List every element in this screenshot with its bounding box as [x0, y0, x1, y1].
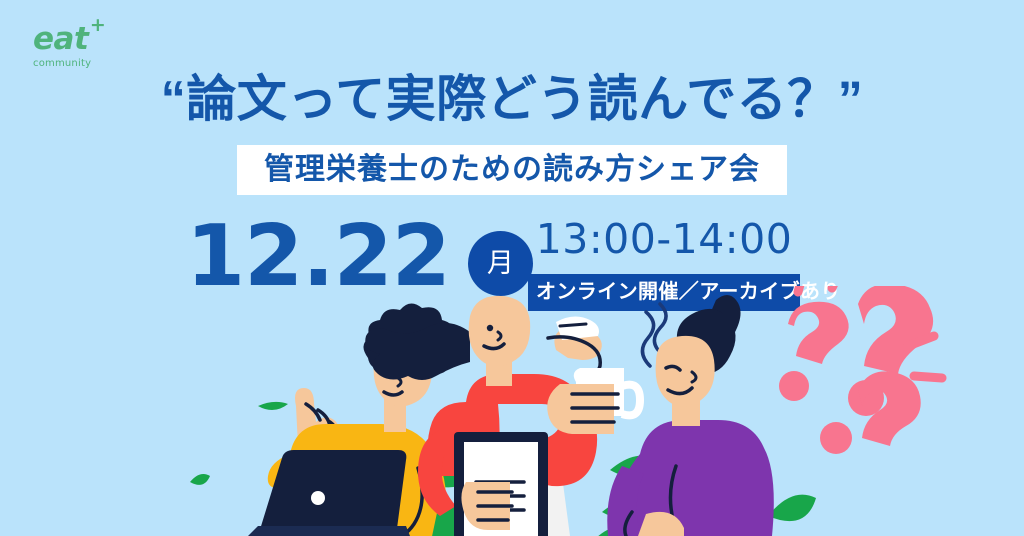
status-badge: オンライン開催／アーカイブあり: [528, 274, 800, 311]
leaf-accents: [190, 402, 816, 536]
event-date-block: 12.22 月: [186, 214, 533, 299]
weekday-badge: 月: [468, 231, 533, 296]
brand-logo[interactable]: eat+ community: [33, 24, 183, 69]
weekday-label: 月: [487, 250, 514, 277]
event-date: 12.22: [186, 214, 450, 299]
person-with-laptop: [248, 303, 469, 536]
event-time: 13:00-14:00: [528, 218, 800, 261]
subtitle-text: 管理栄養士のための読み方シェア会: [264, 155, 760, 185]
question-marks-icon: [779, 286, 942, 454]
people-illustration: [0, 286, 1024, 536]
subtitle-band: 管理栄養士のための読み方シェア会: [237, 145, 787, 195]
person-with-coffee: [547, 295, 774, 536]
page-title: “論文って実際どう読んでる？”: [0, 72, 1024, 126]
logo-subtext: community: [33, 58, 183, 69]
person-with-clipboard: [365, 296, 602, 536]
logo-plus-icon: +: [90, 16, 105, 35]
event-poster: eat+ community “論文って実際どう読んでる？” 管理栄養士のための…: [0, 0, 1024, 536]
event-time-block: 13:00-14:00 オンライン開催／アーカイブあり: [528, 218, 800, 311]
doodle-squiggle: [408, 315, 438, 344]
logo-wordmark: eat+: [33, 24, 88, 55]
